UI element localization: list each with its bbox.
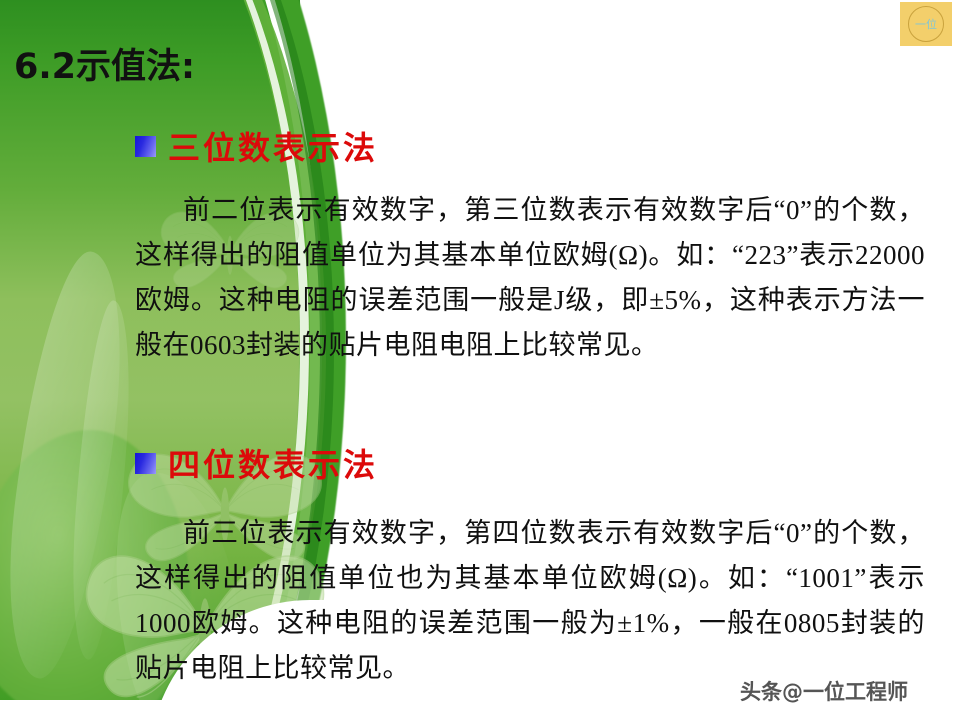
section-paragraph: 前二位表示有效数字，第三位数表示有效数字后“0”的个数，这样得出的阻值单位为其基… <box>135 188 925 368</box>
section-heading: 四位数表示法 <box>135 443 940 483</box>
watermark-text: 头条@一位工程师 <box>740 676 908 706</box>
section-four-digit: 四位数表示法 前三位表示有效数字，第四位数表示有效数字后“0”的个数，这样得出的… <box>135 443 940 691</box>
section-paragraph: 前三位表示有效数字，第四位数表示有效数字后“0”的个数，这样得出的阻值单位也为其… <box>135 511 925 691</box>
blue-square-bullet-icon <box>135 136 156 157</box>
section-three-digit: 三位数表示法 前二位表示有效数字，第三位数表示有效数字后“0”的个数，这样得出的… <box>135 126 940 368</box>
section-heading-label: 四位数表示法 <box>168 440 378 486</box>
section-heading: 三位数表示法 <box>135 126 940 166</box>
page-title: 6.2示值法: <box>14 38 195 89</box>
slide-canvas: 一位 6.2示值法: 三位数表示法 前二位表示有效数字，第三位数表示有效数字后“… <box>0 0 960 720</box>
slide-content: 6.2示值法: 三位数表示法 前二位表示有效数字，第三位数表示有效数字后“0”的… <box>0 0 960 720</box>
blue-square-bullet-icon <box>135 453 156 474</box>
section-heading-label: 三位数表示法 <box>168 123 378 169</box>
